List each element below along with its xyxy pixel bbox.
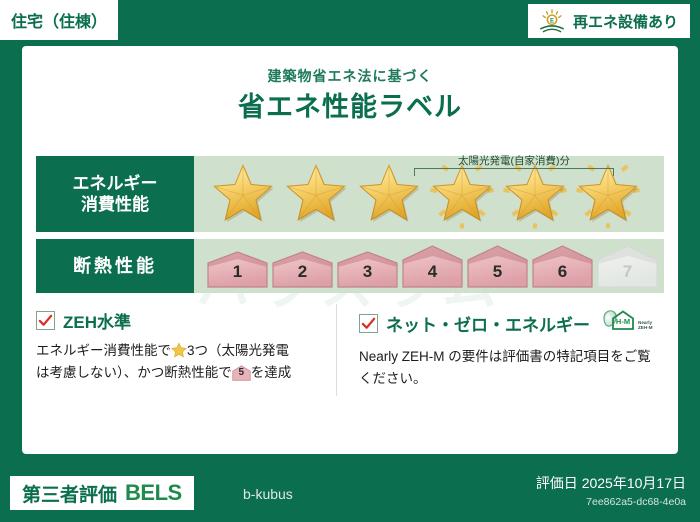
evaluation-info: 評価日 2025年10月17日 7ee862a5-dc68-4e0a: [536, 473, 686, 508]
zeh-text-part3: を達成: [251, 365, 292, 380]
insulation-performance-body: 1234567: [194, 239, 664, 293]
building-type-chip: 住宅（住棟）: [0, 0, 118, 40]
nze-title: ネット・ゼロ・エネルギー: [386, 311, 590, 336]
insulation-level-number: 4: [401, 262, 464, 282]
inline-house-icon: 5: [232, 365, 251, 381]
check-icon: [38, 313, 53, 328]
insulation-level-3: 3: [336, 250, 399, 288]
energy-performance-row: エネルギー 消費性能 太陽光発電(自家消費)分: [36, 156, 664, 232]
building-type-label: 住宅（住棟）: [11, 8, 107, 32]
insulation-level-number: 7: [596, 262, 659, 282]
zeh-text-part1: エネルギー消費性能で: [36, 343, 171, 358]
notes-section: ZEH水準 エネルギー消費性能で3つ（太陽光発電は考慮しない）、かつ断熱性能で5…: [36, 308, 664, 390]
insulation-level-7: 7: [596, 244, 659, 288]
label-subtitle: 建築物省エネ法に基づく: [22, 66, 678, 86]
insulation-level-number: 1: [206, 262, 269, 282]
label-title: 省エネ性能ラベル: [22, 85, 678, 124]
zeh-description: エネルギー消費性能で3つ（太陽光発電は考慮しない）、かつ断熱性能で5を達成: [36, 340, 335, 384]
note-zeh-header: ZEH水準: [36, 308, 335, 333]
bels-japanese-label: 第三者評価: [22, 480, 117, 507]
zeh-checkbox: [36, 311, 55, 330]
energy-label-line2: 消費性能: [81, 194, 149, 215]
zeh-text-part2: は考慮しない）、かつ断熱性能で: [36, 365, 232, 380]
note-nze-header: ネット・ゼロ・エネルギー H-M: [359, 308, 664, 339]
insulation-level-number: 6: [531, 262, 594, 282]
insulation-level-1: 1: [206, 250, 269, 288]
label-panel: ハウスラム 建築物省エネ法に基づく 省エネ性能ラベル エネルギー 消費性能 太陽…: [22, 46, 678, 454]
energy-performance-label: 住宅（住棟） E 再エネ設備あり ハウスラム 建築物省エネ法に基づく 省エネ性能…: [0, 0, 700, 522]
energy-performance-label: エネルギー 消費性能: [36, 156, 194, 232]
insulation-level-number: 2: [271, 262, 334, 282]
sun-solar-icon: E: [538, 9, 566, 33]
bels-logo-text: BELS: [125, 480, 182, 506]
renewable-badge-label: 再エネ設備あり: [573, 11, 678, 32]
zeh-m-logo: H-M Nearly ZEH-M: [602, 308, 664, 339]
zehm-caption-2: ZEH-M: [638, 325, 653, 330]
insulation-performance-row: 断熱性能 1234567: [36, 239, 664, 293]
insulation-performance-label: 断熱性能: [36, 239, 194, 293]
solar-bracket: [414, 168, 614, 176]
nze-checkbox: [359, 314, 378, 333]
svg-text:H-M: H-M: [616, 317, 630, 326]
nze-description: Nearly ZEH-M の要件は評価書の特記項目をご覧ください。: [359, 346, 664, 390]
svg-text:E: E: [550, 18, 554, 24]
insulation-level-number: 3: [336, 262, 399, 282]
note-net-zero-energy: ネット・ゼロ・エネルギー H-M: [349, 308, 664, 390]
evaluation-date: 評価日 2025年10月17日: [536, 473, 686, 493]
inline-star-icon: [171, 342, 187, 358]
insulation-label-text: 断熱性能: [73, 255, 157, 278]
renewable-equipment-badge: E 再エネ設備あり: [528, 4, 690, 38]
note-zeh-standard: ZEH水準 エネルギー消費性能で3つ（太陽光発電は考慮しない）、かつ断熱性能で5…: [36, 308, 335, 390]
star-2: [279, 157, 352, 231]
star-1: [206, 157, 279, 231]
energy-performance-body: 太陽光発電(自家消費)分: [194, 156, 664, 232]
insulation-level-scale: 1234567: [194, 244, 659, 288]
insulation-level-6: 6: [531, 244, 594, 288]
energy-label-line1: エネルギー: [73, 173, 158, 194]
evaluation-id: 7ee862a5-dc68-4e0a: [536, 496, 686, 508]
inline-house-number: 5: [232, 365, 251, 381]
bels-certification-chip: 第三者評価 BELS: [10, 476, 194, 510]
insulation-level-4: 4: [401, 244, 464, 288]
insulation-level-number: 5: [466, 262, 529, 282]
zeh-title: ZEH水準: [63, 308, 131, 333]
brand-name: b-kubus: [243, 486, 293, 502]
check-icon: [361, 316, 376, 331]
solar-annotation-text: 太陽光発電(自家消費)分: [414, 153, 614, 168]
insulation-level-5: 5: [466, 244, 529, 288]
zeh-text-stars: 3つ（太陽光発電: [187, 343, 289, 358]
insulation-level-2: 2: [271, 250, 334, 288]
